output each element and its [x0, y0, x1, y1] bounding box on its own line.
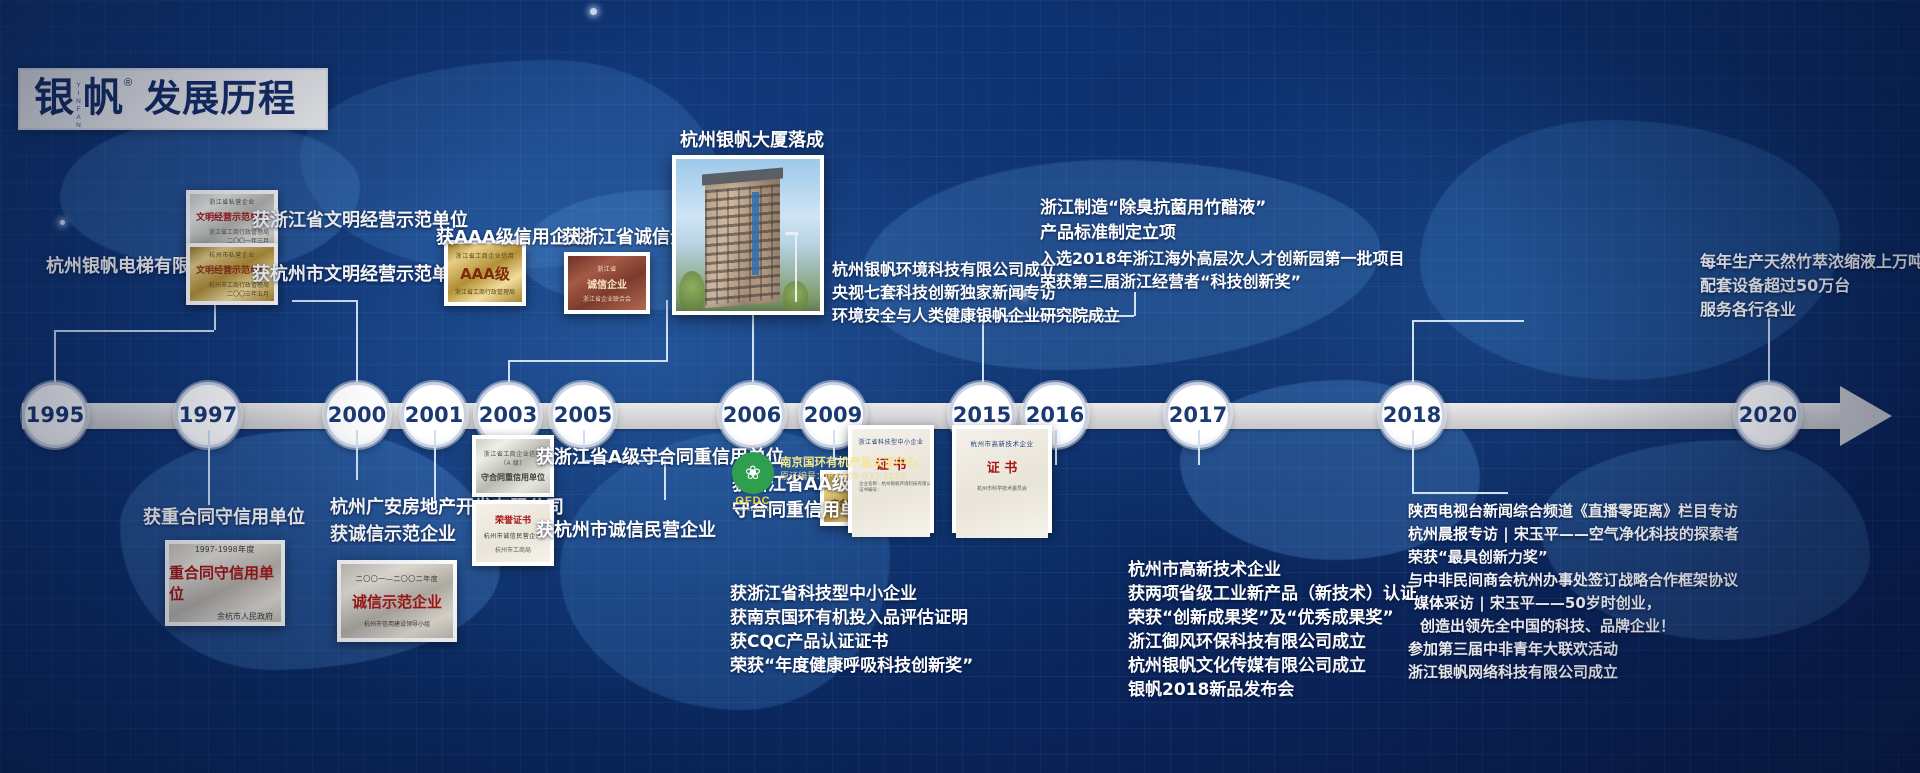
event-line-2018-bottom-6: 创造出领先全中国的科技、品牌企业！	[1420, 615, 1675, 639]
leader-line	[1412, 320, 1414, 382]
leader-line	[356, 300, 358, 382]
leader-line	[434, 430, 436, 502]
plaque-main: 诚信示范企业	[352, 591, 442, 612]
certificate-footer: 杭州市科学技术委员会	[977, 485, 1027, 492]
event-line-2016-2: 获南京国环有机投入品评估证明	[730, 606, 968, 631]
event-line-2018-top-3: 入选2018年浙江海外高层次人才创新园第一批项目	[1040, 247, 1405, 271]
plaque-footer: 浙江省企业联合会	[583, 294, 631, 303]
organic-badge-accred: ACCREDITED	[732, 507, 774, 512]
event-line-2017-5: 杭州银帆文化传媒有限公司成立	[1128, 654, 1366, 679]
event-line-2017-3: 荣获“创新成果奖”及“优秀成果奖”	[1128, 606, 1394, 631]
plaque-footer: 杭州市工商局	[495, 545, 531, 554]
leader-line	[356, 430, 358, 480]
timeline-arrow-icon	[1840, 386, 1892, 446]
plaque-main: 重合同守信用单位	[169, 562, 281, 604]
event-line-2020-1: 每年生产天然竹萃浓缩液上万吨	[1700, 250, 1920, 274]
event-line-2017-1: 杭州市高新技术企业	[1128, 558, 1281, 583]
event-line-2018-bottom-3: 荣获“最具创新力奖”	[1408, 546, 1548, 570]
event-line-2016-3: 获CQC产品认证证书	[730, 630, 888, 655]
event-line-2018-bottom-2: 杭州晨报专访 | 宋玉平——空气净化科技的探索者	[1408, 523, 1739, 547]
plaque-header: 杭州市私营企业	[209, 250, 255, 259]
event-line-2015-3: 环境安全与人类健康银帆企业研究院成立	[832, 304, 1120, 328]
event-line-2018-bottom-5: 媒体采访 | 宋玉平——50岁时创业，	[1414, 592, 1661, 616]
event-line-2020-3: 服务各行各业	[1700, 298, 1796, 322]
plaque-1997-contract-credit: 1997-1998年度 重合同守信用单位 余杭市人民政府	[165, 540, 285, 626]
plaque-main: AAA级	[460, 263, 510, 284]
event-line-2018-bottom-8: 浙江银帆网络科技有限公司成立	[1408, 661, 1618, 685]
certificate-header: 杭州市高新技术企业	[971, 438, 1034, 448]
infographic-canvas: 银 YINFAN 帆 ® 发展历程 1995 1997 2000 2001 20…	[0, 0, 1920, 773]
brand-logo: 银 YINFAN 帆 ®	[34, 78, 132, 120]
leader-line	[54, 330, 214, 332]
plaque-header: 浙江省	[597, 264, 617, 273]
leader-line	[292, 300, 358, 302]
timeline-year-1995[interactable]: 1995	[22, 382, 88, 448]
building-photo-yinfan-tower	[672, 155, 824, 315]
event-line-2015-1: 杭州银帆环境科技有限公司成立	[832, 258, 1056, 282]
event-label-2005c: 获杭州市诚信民营企业	[536, 518, 716, 544]
leader-line	[508, 360, 668, 362]
leader-line	[1055, 430, 1057, 465]
event-line-2020-2: 配套设备超过50万台	[1700, 274, 1850, 298]
organic-badge-line1: 南京国环有机产品认证中心	[780, 454, 918, 470]
plaque-footer: 浙江省工商行政管理局	[455, 287, 515, 296]
event-label-2000-line2: 获诚信示范企业	[330, 522, 456, 548]
event-line-2018-bottom-1: 陕西电视台新闻综合频道《直播零距离》栏目专访	[1408, 500, 1738, 524]
leader-line	[1412, 492, 1508, 494]
leader-line	[1134, 292, 1136, 316]
event-line-2018-top-2: 产品标准制定立项	[1040, 221, 1176, 246]
plaque-header: 二〇〇一—二〇〇二年度	[356, 574, 439, 584]
timeline-year-2020[interactable]: 2020	[1735, 382, 1801, 448]
leader-line	[666, 300, 668, 362]
plaque-2006-integrity-enterprise: 浙江省 诚信企业 浙江省企业联合会	[564, 252, 650, 314]
leader-line	[1412, 430, 1414, 492]
plaque-header: 浙江省私营企业	[209, 197, 255, 206]
event-line-2018-top-1: 浙江制造“除臭抗菌用竹醋液”	[1040, 196, 1266, 221]
certificate-main: 证 书	[987, 457, 1018, 476]
event-line-2017-6: 银帆2018新品发布会	[1128, 678, 1294, 703]
leader-line	[1412, 320, 1524, 322]
certificate-footer: 企业名称：杭州银帆环境科技有限公司 证书编号：	[859, 481, 930, 493]
sparkle-icon	[590, 8, 597, 15]
plaque-main: 诚信企业	[587, 276, 627, 291]
certificate-2017-high-tech: 杭州市高新技术企业 证 书 杭州市科学技术委员会	[952, 425, 1052, 533]
event-label-2003: 获杭州市文明经营示范单位	[252, 262, 468, 288]
event-line-2018-top-4: 荣获第三届浙江经营者“科技创新奖”	[1040, 270, 1301, 294]
plaque-header: 荣誉证书	[495, 513, 531, 526]
registered-mark-icon: ®	[124, 78, 132, 88]
certificate-header: 浙江省科技型中小企业	[858, 437, 923, 446]
event-line-2018-bottom-7: 参加第三届中非青年大联欢活动	[1408, 638, 1618, 662]
event-line-2017-2: 获两项省级工业新产品（新技术）认证	[1128, 582, 1417, 607]
page-title-text: 发展历程	[144, 80, 296, 118]
timeline-year-2006[interactable]: 2006	[719, 382, 785, 448]
organic-leaf-icon: ❀	[732, 452, 774, 494]
leader-line	[208, 430, 210, 505]
plaque-header: 浙江省工商企业信用	[456, 251, 515, 260]
event-line-2017-4: 浙江御风环保科技有限公司成立	[1128, 630, 1366, 655]
plaque-footer: 余杭市人民政府	[217, 611, 273, 622]
logo-pinyin: YINFAN	[75, 82, 82, 120]
leader-line	[1198, 430, 1200, 465]
event-line-2018-bottom-4: 与中非民间商会杭州办事处签订战略合作框架协议	[1408, 569, 1738, 593]
logo-char-fan: 帆	[83, 78, 123, 118]
organic-badge-mark: OFDC	[732, 495, 774, 507]
organic-badge-line2: 原证编号：IP-0505-933-2528	[780, 469, 906, 482]
plaque-main: 守合同重信用单位	[481, 472, 545, 483]
leader-line	[508, 360, 510, 382]
page-title: 银 YINFAN 帆 ® 发展历程	[18, 68, 328, 130]
timeline-axis	[22, 403, 1848, 429]
logo-char-yin: 银	[34, 78, 74, 118]
leader-line	[1768, 318, 1770, 382]
plaque-2000-integrity-model: 二〇〇一—二〇〇二年度 诚信示范企业 杭州市信用建设领导小组	[337, 560, 457, 642]
organic-certification-badge: ❀ OFDC ACCREDITED 南京国环有机产品认证中心 原证编号：IP-0…	[732, 452, 774, 512]
plaque-header: 浙江省工商企业信用 （A 级）	[484, 449, 543, 467]
event-line-2016-4: 荣获“年度健康呼吸科技创新奖”	[730, 654, 973, 679]
photo-caption-2015: 杭州银帆大厦落成	[680, 128, 824, 154]
leader-line	[54, 330, 56, 382]
event-line-2016-1: 获浙江省科技型中小企业	[730, 582, 917, 607]
plaque-footer: 杭州市信用建设领导小组	[364, 619, 430, 628]
sparkle-icon	[60, 220, 65, 225]
plaque-header: 1997-1998年度	[195, 544, 255, 555]
event-line-2015-2: 央视七套科技创新独家新闻专访	[832, 281, 1056, 305]
plaque-main: 杭州市诚信民营企业	[484, 531, 543, 540]
event-label-1997: 获重合同守信用单位	[143, 505, 305, 531]
